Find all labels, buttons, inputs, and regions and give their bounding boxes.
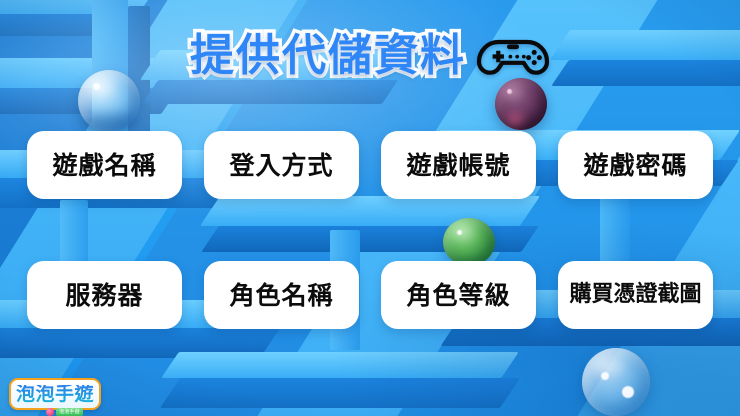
field-label-game-name: 遊戲名稱 <box>52 153 156 178</box>
field-card-character-level[interactable]: 角色等級 <box>381 261 536 329</box>
badge-dot-icon <box>46 408 54 416</box>
field-label-server: 服務器 <box>65 283 143 308</box>
field-label-character-name: 角色名稱 <box>229 283 333 308</box>
field-card-game-password[interactable]: 遊戲密碼 <box>558 131 713 199</box>
field-label-game-account: 遊戲帳號 <box>406 153 510 178</box>
field-label-game-password: 遊戲密碼 <box>583 153 687 178</box>
field-row-2: 服務器 角色名稱 角色等級 購買憑證截圖 <box>0 261 740 329</box>
badge-chip-text: 泡泡手遊 <box>56 408 83 416</box>
brand-watermark-badge: 泡泡手遊 <box>46 407 83 416</box>
marble-clear-bottom-right <box>582 348 650 416</box>
field-label-login-method: 登入方式 <box>229 153 333 178</box>
brand-watermark-text: 泡泡手遊 <box>16 385 94 404</box>
page-title-row: 提供代儲資料 <box>0 20 740 92</box>
maze-wall <box>160 378 520 408</box>
field-card-character-name[interactable]: 角色名稱 <box>204 261 359 329</box>
maze-wall <box>200 196 540 226</box>
field-card-server[interactable]: 服務器 <box>27 261 182 329</box>
promo-graphic-root: 提供代儲資料 遊戲名稱 登入方式 遊戲帳號 遊戲密碼 <box>0 0 740 416</box>
field-row-1: 遊戲名稱 登入方式 遊戲帳號 遊戲密碼 <box>0 131 740 199</box>
field-card-game-name[interactable]: 遊戲名稱 <box>27 131 182 199</box>
field-card-game-account[interactable]: 遊戲帳號 <box>381 131 536 199</box>
field-label-character-level: 角色等級 <box>406 283 510 308</box>
gamepad-icon <box>476 32 550 82</box>
field-label-purchase-receipt: 購買憑證截圖 <box>569 284 701 306</box>
page-title: 提供代儲資料 <box>190 34 466 78</box>
field-card-login-method[interactable]: 登入方式 <box>204 131 359 199</box>
field-card-purchase-receipt[interactable]: 購買憑證截圖 <box>558 261 713 329</box>
maze-wall <box>161 352 519 378</box>
brand-watermark: 泡泡手遊 <box>9 378 101 410</box>
marble-green-center <box>443 218 495 266</box>
